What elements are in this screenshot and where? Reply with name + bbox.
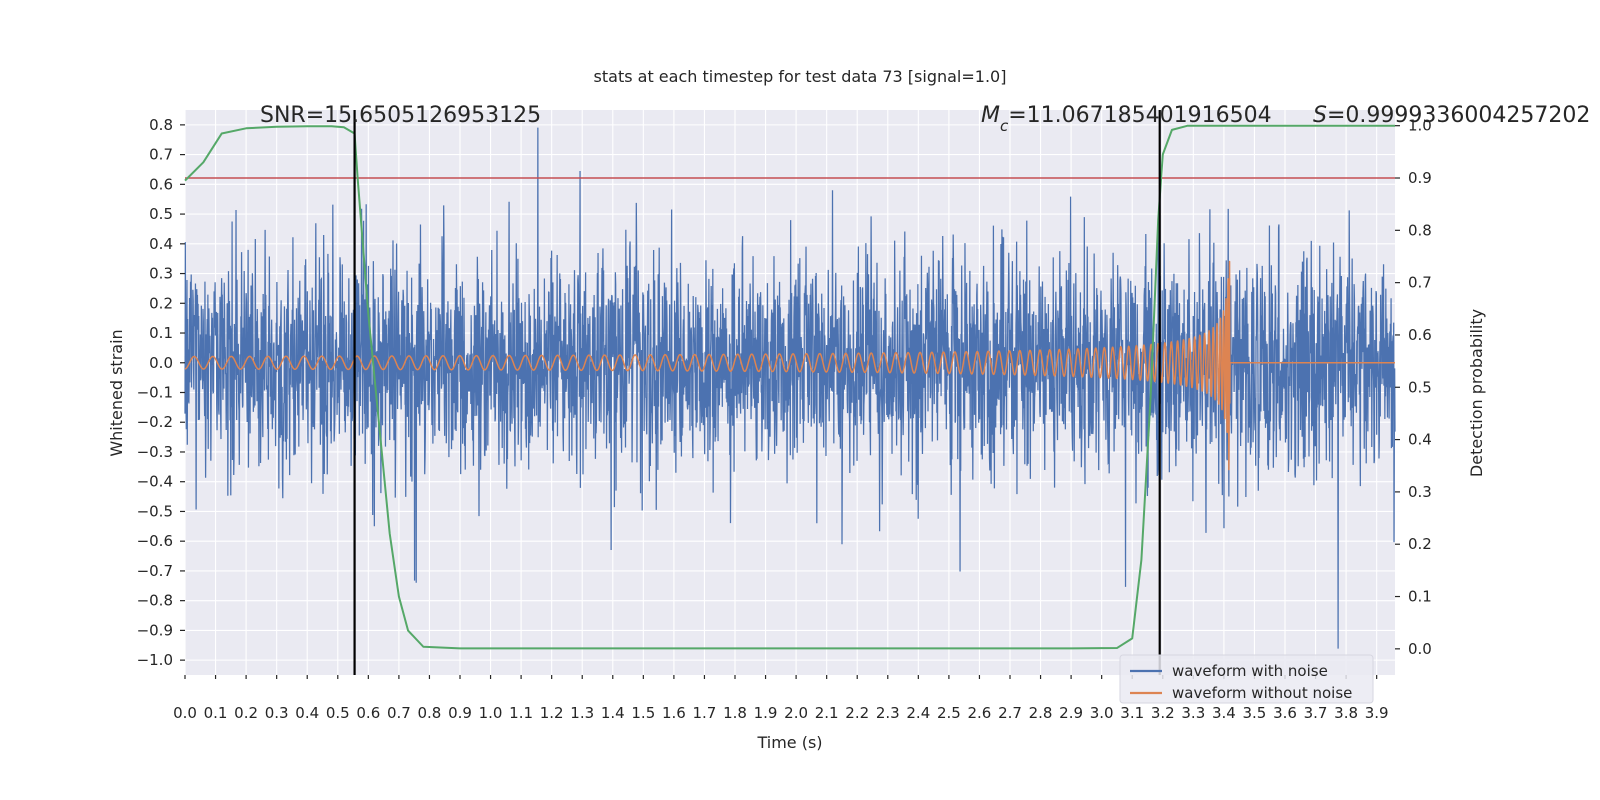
y-tick-label-left: 0.2: [149, 294, 173, 312]
x-tick-label: 1.2: [540, 704, 564, 722]
y-axis-label-left: Whitened strain: [107, 329, 126, 456]
x-tick-label: 1.4: [601, 704, 625, 722]
x-tick-label: 1.8: [723, 704, 747, 722]
y-tick-label-right: 0.1: [1408, 588, 1432, 606]
legend-label-0[interactable]: waveform with noise: [1172, 662, 1328, 680]
x-tick-label: 0.3: [265, 704, 289, 722]
y-axis-label-right: Detection probability: [1467, 309, 1486, 477]
y-tick-label-left: −0.2: [137, 413, 173, 431]
x-tick-label: 0.8: [418, 704, 442, 722]
x-tick-label: 1.6: [662, 704, 686, 722]
x-tick-label: 2.7: [998, 704, 1022, 722]
y-tick-label-right: 0.0: [1408, 640, 1432, 658]
y-tick-label-right: 0.9: [1408, 169, 1432, 187]
page-title: stats at each timestep for test data 73 …: [594, 67, 1007, 86]
y-tick-label-right: 0.6: [1408, 326, 1432, 344]
y-tick-label-right: 0.7: [1408, 274, 1432, 292]
x-tick-label: 3.0: [1090, 704, 1114, 722]
x-tick-label: 0.1: [204, 704, 228, 722]
x-tick-label: 3.4: [1212, 704, 1236, 722]
x-tick-label: 3.2: [1151, 704, 1175, 722]
x-tick-label: 3.9: [1365, 704, 1389, 722]
y-tick-label-right: 0.8: [1408, 221, 1432, 239]
legend[interactable]: waveform with noisewaveform without nois…: [1120, 655, 1373, 703]
x-tick-label: 3.3: [1181, 704, 1205, 722]
x-tick-label: 2.2: [845, 704, 869, 722]
x-tick-label: 0.5: [326, 704, 350, 722]
y-tick-label-left: −0.1: [137, 384, 173, 402]
y-tick-label-left: 0.7: [149, 146, 173, 164]
y-tick-label-right: 0.3: [1408, 483, 1432, 501]
y-tick-label-left: −0.6: [137, 532, 173, 550]
x-tick-label: 1.7: [693, 704, 717, 722]
annotation-score: S=0.9999336004257202: [1313, 103, 1590, 128]
y-tick-label-left: −0.8: [137, 592, 173, 610]
y-tick-label-left: −0.4: [137, 473, 173, 491]
figure-canvas: stats at each timestep for test data 73 …: [0, 0, 1600, 800]
x-tick-label: 2.6: [968, 704, 992, 722]
y-tick-label-right: 0.5: [1408, 378, 1432, 396]
x-tick-label: 2.1: [815, 704, 839, 722]
y-tick-label-left: −0.9: [137, 621, 173, 639]
x-tick-label: 0.4: [295, 704, 319, 722]
y-tick-label-left: 0.8: [149, 116, 173, 134]
x-axis-label: Time (s): [756, 733, 822, 752]
x-tick-label: 1.3: [570, 704, 594, 722]
x-tick-label: 2.3: [876, 704, 900, 722]
y-tick-label-left: −0.3: [137, 443, 173, 461]
x-tick-label: 0.6: [356, 704, 380, 722]
y-tick-label-left: 0.6: [149, 175, 173, 193]
x-tick-label: 2.5: [937, 704, 961, 722]
y-tick-label-left: 0.1: [149, 324, 173, 342]
y-tick-label-left: 0.5: [149, 205, 173, 223]
x-tick-label: 3.8: [1334, 704, 1358, 722]
x-tick-label: 2.4: [906, 704, 930, 722]
x-tick-label: 0.7: [387, 704, 411, 722]
x-tick-label: 0.0: [173, 704, 197, 722]
y-tick-label-left: 0.3: [149, 265, 173, 283]
x-tick-label: 3.7: [1304, 704, 1328, 722]
x-tick-label: 2.9: [1059, 704, 1083, 722]
x-tick-label: 3.1: [1120, 704, 1144, 722]
x-tick-label: 3.5: [1243, 704, 1267, 722]
y-tick-label-left: 0.4: [149, 235, 173, 253]
x-tick-label: 3.6: [1273, 704, 1297, 722]
y-tick-label-right: 0.2: [1408, 535, 1432, 553]
x-tick-label: 1.5: [631, 704, 655, 722]
x-tick-label: 2.0: [784, 704, 808, 722]
annotation-snr: SNR=15.6505126953125: [260, 103, 541, 128]
x-tick-label: 1.1: [509, 704, 533, 722]
chart-svg: stats at each timestep for test data 73 …: [0, 0, 1600, 800]
x-tick-label: 1.0: [479, 704, 503, 722]
y-tick-label-left: −0.7: [137, 562, 173, 580]
x-tick-label: 1.9: [754, 704, 778, 722]
x-tick-label: 0.2: [234, 704, 258, 722]
y-tick-label-left: −1.0: [137, 651, 173, 669]
x-tick-label: 2.8: [1029, 704, 1053, 722]
y-tick-label-left: 0.0: [149, 354, 173, 372]
x-tick-label: 0.9: [448, 704, 472, 722]
y-tick-label-left: −0.5: [137, 502, 173, 520]
y-tick-label-right: 0.4: [1408, 431, 1432, 449]
legend-label-1[interactable]: waveform without noise: [1172, 684, 1352, 702]
